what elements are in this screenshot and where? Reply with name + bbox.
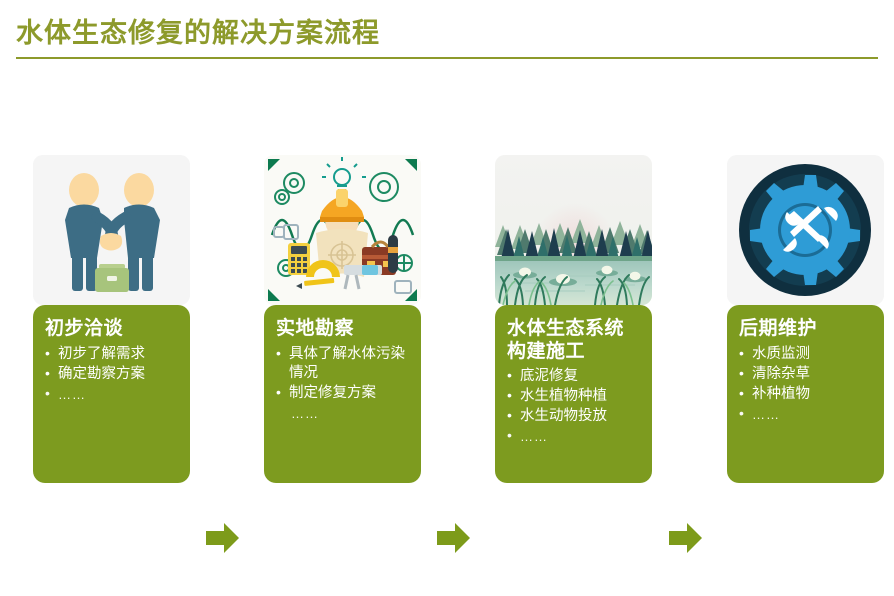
step-2-icon-panel bbox=[264, 155, 421, 305]
step-4-body: 后期维护 水质监测 清除杂草 补种植物 …… bbox=[727, 305, 884, 483]
list-item: …… bbox=[507, 427, 642, 446]
title-divider bbox=[16, 57, 878, 59]
step-3-bullets: 底泥修复 水生植物种植 水生动物投放 …… bbox=[507, 367, 642, 446]
step-3-title: 水体生态系统构建施工 bbox=[507, 317, 642, 363]
list-item: 水质监测 bbox=[739, 345, 874, 364]
process-flow-diagram: 初步洽谈 初步了解需求 确定勘察方案 …… bbox=[0, 155, 894, 490]
list-item: …… bbox=[739, 405, 874, 424]
list-item: 确定勘察方案 bbox=[45, 365, 180, 384]
list-item: 清除杂草 bbox=[739, 365, 874, 384]
step-3-body: 水体生态系统构建施工 底泥修复 水生植物种植 水生动物投放 …… bbox=[495, 305, 652, 483]
flow-step-3[interactable]: 水体生态系统构建施工 底泥修复 水生植物种植 水生动物投放 …… bbox=[495, 155, 652, 305]
gear-tools-icon bbox=[727, 155, 884, 305]
step-3-icon-panel bbox=[495, 155, 652, 305]
list-item: 初步了解需求 bbox=[45, 345, 180, 364]
step-2-title: 实地勘察 bbox=[276, 317, 411, 341]
right-arrow-icon bbox=[202, 518, 242, 558]
step-1-body: 初步洽谈 初步了解需求 确定勘察方案 …… bbox=[33, 305, 190, 483]
right-arrow-icon bbox=[433, 518, 473, 558]
flow-step-1[interactable]: 初步洽谈 初步了解需求 确定勘察方案 …… bbox=[33, 155, 190, 305]
list-item: 水生植物种植 bbox=[507, 387, 642, 406]
step-4-title: 后期维护 bbox=[739, 317, 874, 341]
lake-forest-icon bbox=[495, 155, 652, 305]
handshake-icon bbox=[33, 155, 190, 305]
flow-step-2[interactable]: 实地勘察 具体了解水体污染情况 制定修复方案 …… bbox=[264, 155, 421, 305]
arrow-step3-to-step4 bbox=[665, 518, 705, 558]
list-item: 具体了解水体污染情况 bbox=[276, 345, 411, 383]
list-item: …… bbox=[276, 404, 411, 423]
list-item: …… bbox=[45, 385, 180, 404]
step-1-icon-panel bbox=[33, 155, 190, 305]
step-1-title: 初步洽谈 bbox=[45, 317, 180, 341]
right-arrow-icon bbox=[665, 518, 705, 558]
page-title: 水体生态修复的解决方案流程 bbox=[16, 16, 878, 50]
flow-step-4[interactable]: 后期维护 水质监测 清除杂草 补种植物 …… bbox=[727, 155, 884, 305]
list-item: 水生动物投放 bbox=[507, 407, 642, 426]
step-1-bullets: 初步了解需求 确定勘察方案 …… bbox=[45, 345, 180, 404]
site-survey-engineer-icon bbox=[264, 155, 421, 305]
arrow-step2-to-step3 bbox=[433, 518, 473, 558]
list-item: 补种植物 bbox=[739, 385, 874, 404]
step-4-icon-panel bbox=[727, 155, 884, 305]
arrow-step1-to-step2 bbox=[202, 518, 242, 558]
page-header: 水体生态修复的解决方案流程 bbox=[16, 16, 878, 59]
list-item: 制定修复方案 bbox=[276, 384, 411, 403]
step-4-bullets: 水质监测 清除杂草 补种植物 …… bbox=[739, 345, 874, 424]
step-2-body: 实地勘察 具体了解水体污染情况 制定修复方案 …… bbox=[264, 305, 421, 483]
list-item: 底泥修复 bbox=[507, 367, 642, 386]
step-2-bullets: 具体了解水体污染情况 制定修复方案 …… bbox=[276, 345, 411, 423]
